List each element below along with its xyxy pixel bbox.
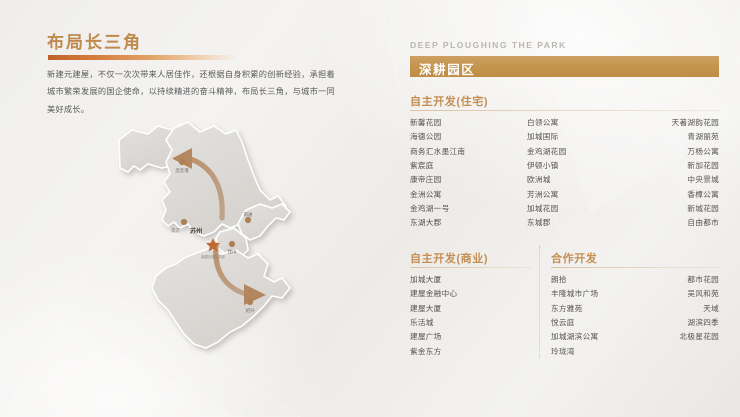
project-item: 吴风和苑	[680, 287, 719, 301]
project-item: 紫宸庭	[410, 159, 465, 173]
heading-residential: 自主开发(住宅)	[410, 93, 488, 109]
project-item: 海德公园	[410, 130, 465, 144]
project-item: 康帝庄园	[410, 173, 465, 187]
project-item: 都市花园	[680, 273, 719, 287]
column-divider	[539, 246, 540, 358]
section-title-text: 深耕园区	[419, 59, 475, 78]
project-item: 东城郡	[527, 216, 566, 230]
city-label-nanjing: 南京	[171, 227, 180, 234]
intro-paragraph: 新建元建屋，不仅一次次带来人居佳作，还根据自身积累的创新经验，承担着城市繁荣发展…	[47, 66, 335, 118]
project-item: 丰隆城市广场	[551, 287, 598, 301]
project-item: 伊顿小镇	[527, 159, 566, 173]
project-item: 加城大厦	[410, 273, 457, 287]
city-label-suzhou-sub: 新建元建屋总部	[201, 254, 225, 259]
city-dot-nanjing	[181, 219, 187, 225]
city-dot-nantong	[245, 217, 251, 223]
project-item: 金洲公寓	[410, 188, 465, 202]
city-dot-kunshan	[229, 241, 235, 247]
project-item: 悦云庭	[551, 316, 598, 330]
eyebrow-english-title: DEEP PLOUGHING THE PARK	[410, 40, 567, 50]
project-item: 建屋金融中心	[410, 287, 457, 301]
city-dot-shaoxing	[247, 299, 253, 305]
project-item: 万杨公寓	[672, 145, 719, 159]
cooperation-column-1: 朗拾丰隆城市广场东方雅苑悦云庭加城湖滨公寓玲珑湾	[551, 273, 598, 359]
map-landmass	[119, 122, 290, 348]
project-item: 商务汇水墨江南	[410, 145, 465, 159]
heading-cooperation-underline	[551, 267, 719, 268]
province-zhejiang	[152, 248, 290, 348]
project-item: 金鸡湖花园	[527, 145, 566, 159]
slide-root: 布局长三角 新建元建屋，不仅一次次带来人居佳作，还根据自身积累的创新经验，承担着…	[0, 0, 740, 417]
project-item: 紫金东方	[410, 345, 457, 359]
project-item: 香樟公寓	[672, 188, 719, 202]
city-label-nantong: 南通	[244, 211, 253, 218]
yangtze-delta-map: 连云港 南京 苏州 新建元建屋总部 南通 昆山 绍兴	[118, 120, 368, 380]
project-item: 青湖丽苑	[672, 130, 719, 144]
city-label-suzhou: 苏州	[190, 227, 202, 235]
project-item: 朗拾	[551, 273, 598, 287]
city-label-kunshan: 昆山	[228, 248, 237, 255]
project-item: 中央景城	[672, 173, 719, 187]
heading-commercial: 自主开发(商业)	[410, 250, 488, 266]
project-item: 天著湖韵花园	[672, 116, 719, 130]
city-label-shaoxing: 绍兴	[246, 307, 255, 314]
commercial-column-1: 加城大厦建屋金融中心建屋大厦乐活城建屋广场紫金东方	[410, 273, 457, 359]
residential-column-3: 天著湖韵花园青湖丽苑万杨公寓新加花园中央景城香樟公寓新城花园自由都市	[672, 116, 719, 231]
project-item: 自由都市	[672, 216, 719, 230]
project-item: 新加花园	[672, 159, 719, 173]
project-item: 北极星花园	[680, 330, 719, 344]
project-item: 芳洲公寓	[527, 188, 566, 202]
project-item: 加城湖滨公寓	[551, 330, 598, 344]
project-item: 建屋大厦	[410, 302, 457, 316]
title-underline-bar	[48, 55, 235, 60]
section-title-bar: 深耕园区	[410, 56, 719, 77]
left-panel: 布局长三角 新建元建屋，不仅一次次带来人居佳作，还根据自身积累的创新经验，承担着…	[0, 0, 380, 417]
project-item: 天域	[680, 302, 719, 316]
heading-cooperation: 合作开发	[551, 250, 597, 266]
residential-column-1: 新馨花园海德公园商务汇水墨江南紫宸庭康帝庄园金洲公寓金鸡湖一号东湖大郡	[410, 116, 465, 231]
project-item: 加城国际	[527, 130, 566, 144]
project-item: 欧洲城	[527, 173, 566, 187]
project-item: 东方雅苑	[551, 302, 598, 316]
project-item: 金鸡湖一号	[410, 202, 465, 216]
map-svg: 连云港 南京 苏州 新建元建屋总部 南通 昆山 绍兴	[118, 120, 368, 380]
cooperation-column-2: 都市花园吴风和苑天域湖滨四季北极星花园	[680, 273, 719, 345]
right-panel: DEEP PLOUGHING THE PARK 深耕园区 自主开发(住宅) 新馨…	[398, 0, 740, 417]
project-item: 玲珑湾	[551, 345, 598, 359]
project-item: 新馨花园	[410, 116, 465, 130]
page-title: 布局长三角	[47, 28, 142, 53]
project-item: 新城花园	[672, 202, 719, 216]
heading-commercial-underline	[410, 267, 532, 268]
project-item: 湖滨四季	[680, 316, 719, 330]
project-item: 乐活城	[410, 316, 457, 330]
city-dot-lianyungang	[179, 159, 185, 165]
heading-residential-underline	[410, 110, 719, 111]
project-item: 加城花园	[527, 202, 566, 216]
project-item: 东湖大郡	[410, 216, 465, 230]
city-label-lianyungang: 连云港	[175, 167, 189, 174]
project-item: 建屋广场	[410, 330, 457, 344]
project-item: 白领公寓	[527, 116, 566, 130]
residential-column-2: 白领公寓加城国际金鸡湖花园伊顿小镇欧洲城芳洲公寓加城花园东城郡	[527, 116, 566, 231]
